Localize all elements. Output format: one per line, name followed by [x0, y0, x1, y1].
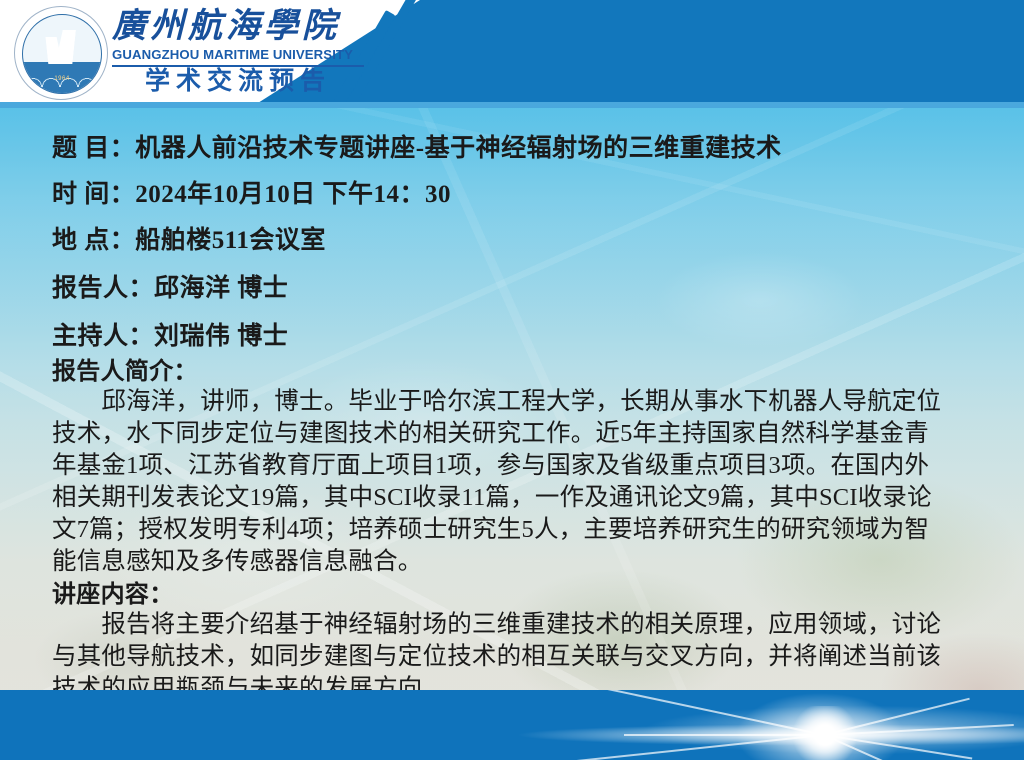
- brand-subtitle: 学术交流预告: [112, 67, 364, 97]
- seal-year-label: 1964: [23, 76, 101, 82]
- speaker-value: 邱海洋 博士: [154, 275, 288, 302]
- place-row: 地 点：船舶楼511会议室: [52, 220, 326, 256]
- place-value: 船舶楼511会议室: [135, 227, 326, 254]
- title-value: 机器人前沿技术专题讲座-基于神经辐射场的三维重建技术: [135, 135, 781, 162]
- bio-line: 年基金1项、江苏省教育厅面上项目1项，参与国家及省级重点项目3项。在国内外: [52, 446, 929, 481]
- host-label: 主持人：: [52, 323, 154, 350]
- lecture-heading: 讲座内容：: [52, 574, 174, 609]
- brand-name-cn: 廣州航海學院: [112, 8, 372, 46]
- time-label: 时 间：: [52, 181, 135, 208]
- time-row: 时 间：2024年10月10日 下午14：30: [52, 174, 451, 210]
- seal-sail-front: [55, 30, 76, 64]
- title-label: 题 目：: [52, 135, 135, 162]
- poster-content: 题 目：机器人前沿技术专题讲座-基于神经辐射场的三维重建技术 时 间：2024年…: [0, 108, 1024, 690]
- lecture-line: 报告将主要介绍基于神经辐射场的三维重建技术的相关原理，应用领域，讨论: [52, 605, 941, 640]
- flare-ray: [624, 734, 824, 736]
- speaker-row: 报告人：邱海洋 博士: [52, 268, 288, 304]
- bio-line: 邱海洋，讲师，博士。毕业于哈尔滨工程大学，长期从事水下机器人导航定位: [52, 382, 941, 417]
- seminar-poster: 1964 廣州航海學院 GUANGZHOU MARITIME UNIVERSIT…: [0, 0, 1024, 760]
- bio-line: 技术，水下同步定位与建图技术的相关研究工作。近5年主持国家自然科学基金青: [52, 414, 929, 449]
- lecture-line: 与其他导航技术，如同步建图与定位技术的相互关联与交叉方向，并将阐述当前该: [52, 637, 941, 672]
- place-label: 地 点：: [52, 227, 135, 254]
- university-seal-logo: 1964: [14, 6, 108, 100]
- time-value: 2024年10月10日 下午14：30: [135, 181, 451, 208]
- brand-name-en: GUANGZHOU MARITIME UNIVERSITY: [112, 47, 372, 63]
- seal-inner-disc: 1964: [22, 14, 102, 94]
- host-row: 主持人：刘瑞伟 博士: [52, 316, 288, 352]
- title-row: 题 目：机器人前沿技术专题讲座-基于神经辐射场的三维重建技术: [52, 128, 782, 164]
- brand-block: 廣州航海學院 GUANGZHOU MARITIME UNIVERSITY 学术交…: [112, 8, 372, 97]
- poster-footer: [0, 690, 1024, 760]
- host-value: 刘瑞伟 博士: [154, 323, 288, 350]
- speaker-label: 报告人：: [52, 275, 154, 302]
- bio-line: 能信息感知及多传感器信息融合。: [52, 542, 423, 577]
- bio-line: 相关期刊发表论文19篇，其中SCI收录11篇，一作及通讯论文9篇，其中SCI收录…: [52, 478, 932, 513]
- poster-header: 1964 廣州航海學院 GUANGZHOU MARITIME UNIVERSIT…: [0, 0, 1024, 108]
- bio-line: 文7篇；授权发明专利4项；培养硕士研究生5人，主要培养研究生的研究领域为智: [52, 510, 929, 545]
- bio-heading: 报告人简介：: [52, 351, 198, 386]
